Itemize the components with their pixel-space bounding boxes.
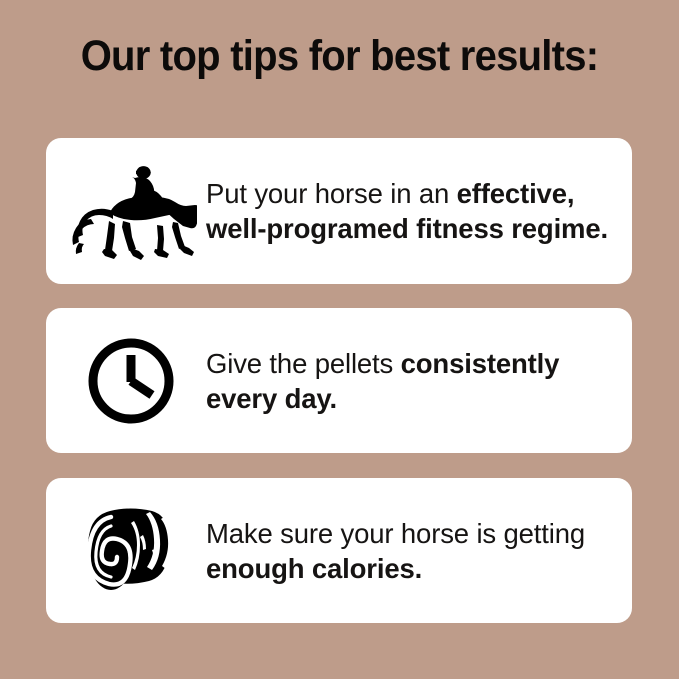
tip-text: Give the pellets consistently every day. bbox=[202, 346, 614, 416]
tip-text-lead: Put your horse in an bbox=[206, 178, 457, 209]
tip-text-lead: Give the pellets bbox=[206, 348, 401, 379]
tips-list: Put your horse in an effective, well-pro… bbox=[46, 138, 632, 623]
tip-card: Give the pellets consistently every day. bbox=[46, 308, 632, 453]
tip-card: Make sure your horse is getting enough c… bbox=[46, 478, 632, 623]
tip-card: Put your horse in an effective, well-pro… bbox=[46, 138, 632, 284]
hay-bale-icon bbox=[60, 496, 202, 606]
horse-rider-icon bbox=[60, 156, 202, 266]
tip-text-emphasis: enough calories. bbox=[206, 553, 422, 584]
tips-poster: Our top tips for best results: bbox=[0, 0, 679, 679]
page-title: Our top tips for best results: bbox=[24, 31, 655, 81]
clock-icon bbox=[60, 326, 202, 436]
tip-text-lead: Make sure your horse is getting bbox=[206, 518, 585, 549]
tip-text: Make sure your horse is getting enough c… bbox=[202, 516, 614, 586]
tip-text: Put your horse in an effective, well-pro… bbox=[202, 176, 614, 246]
